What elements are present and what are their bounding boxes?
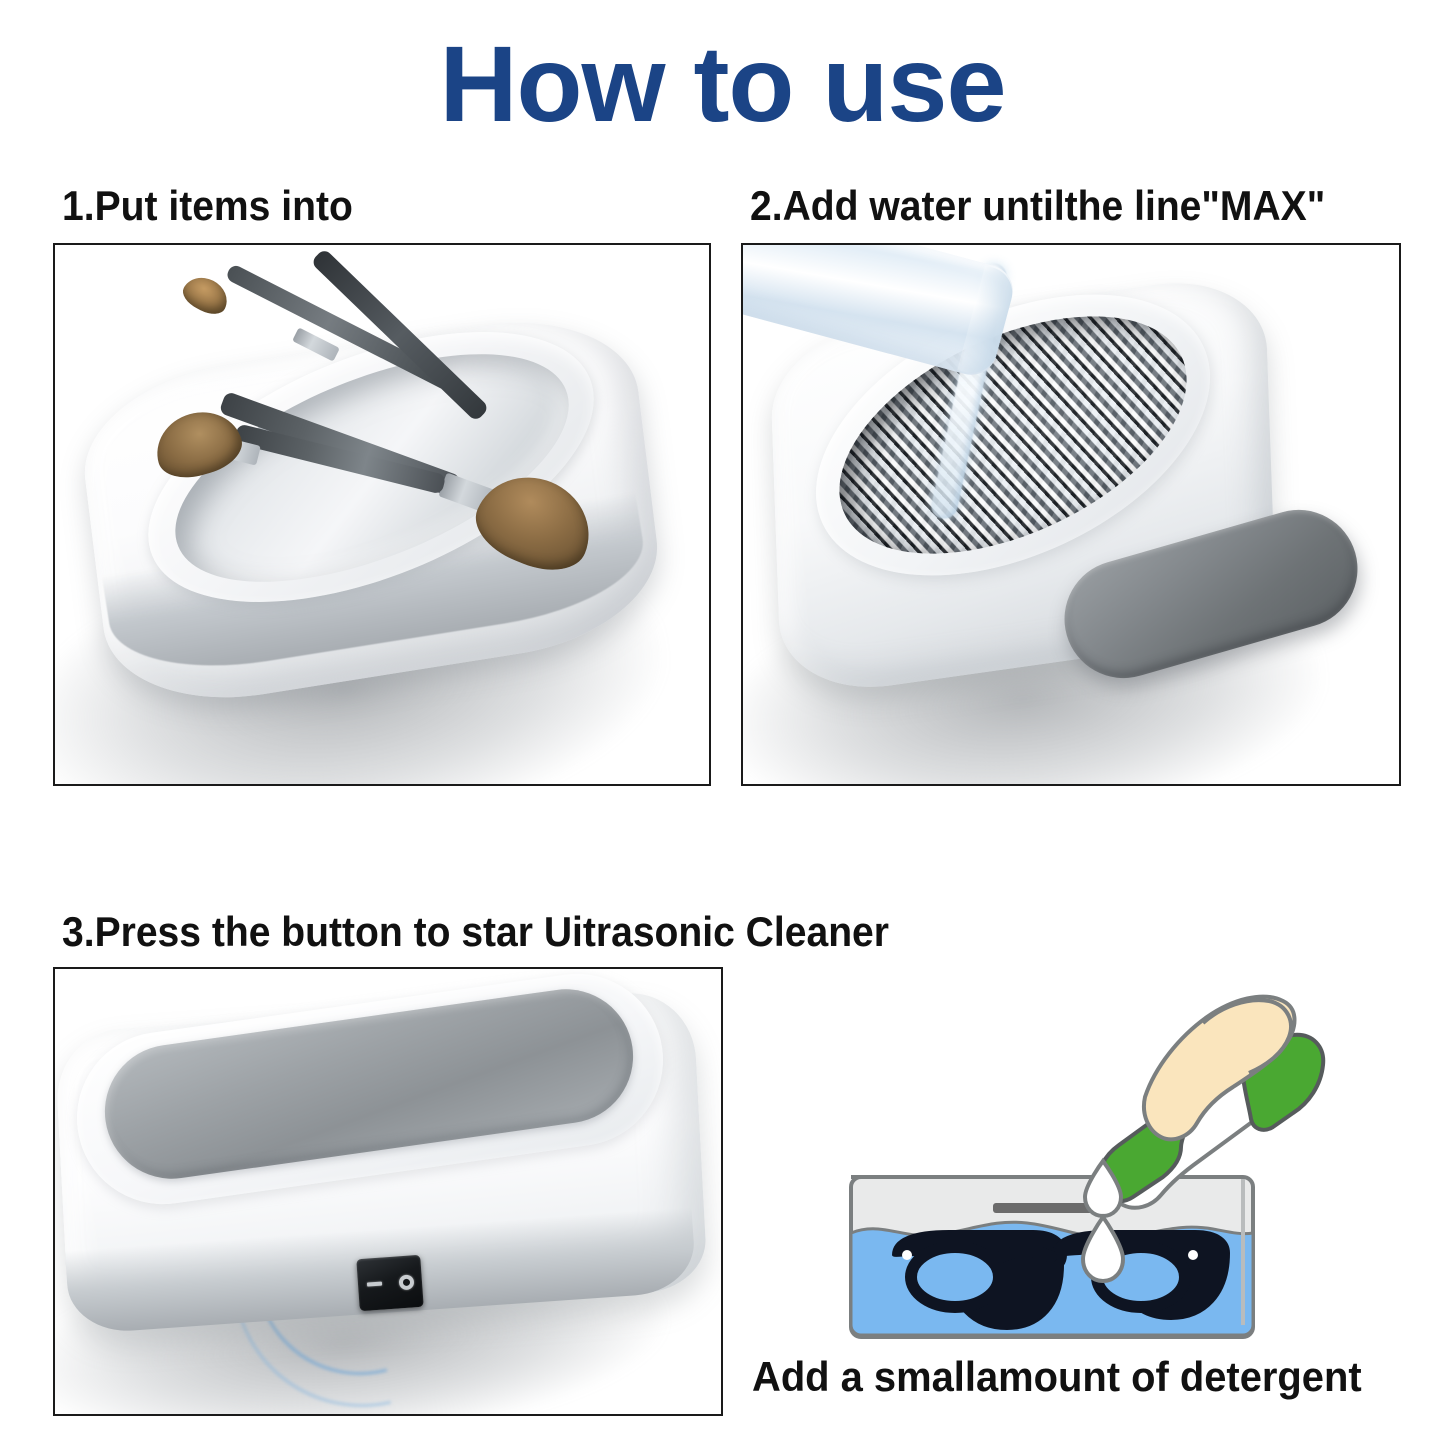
photo-panel-add-water xyxy=(741,243,1401,786)
power-on-icon xyxy=(366,1282,381,1287)
page-title: How to use xyxy=(0,26,1445,143)
photo-panel-press-button xyxy=(53,967,723,1416)
step-3-label: 3.Press the button to star Uitrasonic Cl… xyxy=(62,908,889,956)
power-rocker-switch[interactable] xyxy=(356,1255,423,1311)
cleaner-with-brushes-scene xyxy=(55,245,709,784)
pouring-water-scene xyxy=(743,245,1399,784)
detergent-illustration xyxy=(845,965,1405,1360)
photo-panel-put-items xyxy=(53,243,711,786)
closed-cleaner-scene xyxy=(55,969,721,1414)
how-to-use-infographic: How to use 1.Put items into 2.Add water … xyxy=(0,0,1445,1445)
max-level-line xyxy=(993,1203,1097,1213)
detergent-caption: Add a smallamount of detergent xyxy=(752,1353,1362,1401)
power-off-icon xyxy=(398,1274,414,1290)
makeup-brush-dark-handle xyxy=(285,305,585,505)
step-1-label: 1.Put items into xyxy=(62,182,353,230)
step-2-label: 2.Add water untilthe line"MAX" xyxy=(750,182,1325,230)
